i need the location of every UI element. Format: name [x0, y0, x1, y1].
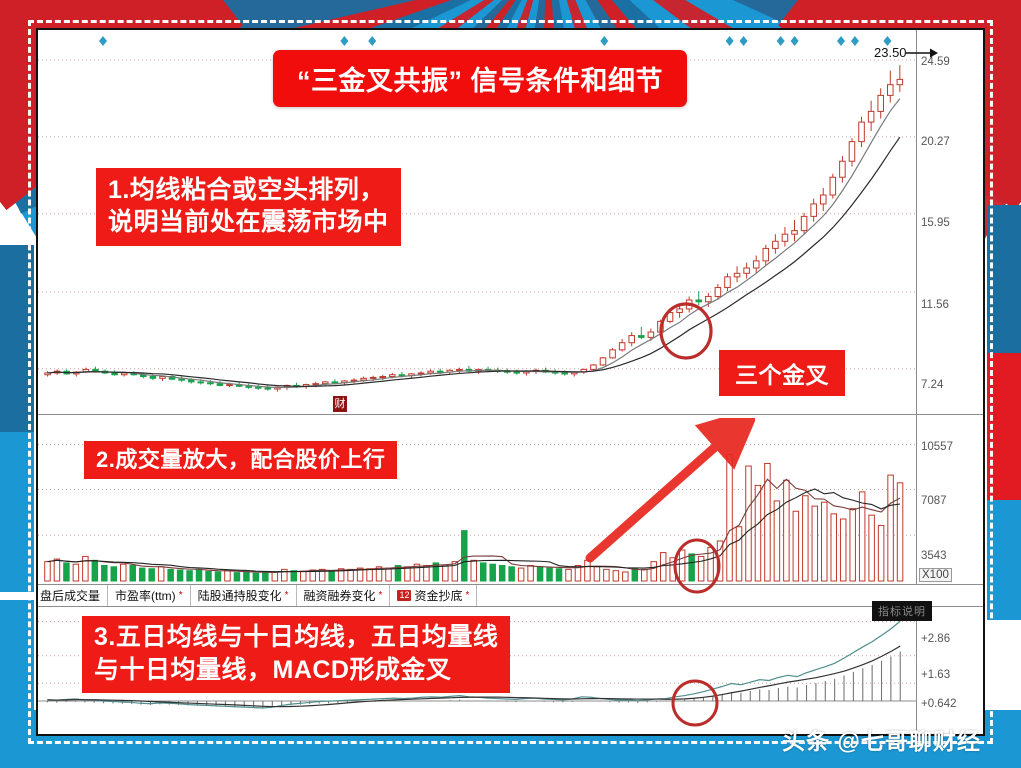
tab-star-icon: * — [285, 591, 289, 601]
cai-marker-icon: 财 — [333, 396, 347, 412]
axis-tick-label: 7087 — [921, 495, 947, 507]
axis-tick-label: +0.642 — [921, 698, 957, 710]
indicator-tab-2[interactable]: 市盈率(ttm)* — [108, 585, 191, 606]
indicator-tab-label: 资金抄底 — [414, 590, 462, 602]
gold-cross-label: 三个金叉 — [719, 350, 845, 396]
volume-trend-arrow — [580, 418, 755, 568]
page-title: “三金叉共振” 信号条件和细节 — [273, 50, 687, 107]
price-pointer-arrow — [906, 46, 940, 62]
macd-gold-cross-circle — [667, 678, 723, 728]
axis-tick-label: +2.86 — [921, 633, 950, 645]
annotation-1: 1.均线粘合或空头排列， 说明当前处在震荡市场中 — [96, 168, 401, 246]
axis-tick-label: 15.95 — [921, 217, 950, 229]
axis-tick-label: +1.63 — [921, 669, 950, 681]
indicator-toolbar[interactable]: 盘后成交量市盈率(ttm)*陆股通持股变化*融资融券变化*12资金抄底* — [38, 585, 983, 607]
price-y-axis: 24.5920.2715.9511.567.24 — [916, 30, 983, 414]
annotation-3: 3.五日均线与十日均线，五日均量线 与十日均量线，MACD形成金叉 — [82, 616, 510, 693]
tab-star-icon: * — [465, 591, 469, 601]
axis-tick-label: 3543 — [921, 550, 947, 562]
last-price-label: 23.50 — [874, 45, 907, 60]
indicator-tab-4[interactable]: 融资融券变化* — [297, 585, 391, 606]
watermark: 头条 @七哥聊财经 — [782, 722, 981, 756]
volume-y-axis: 1055770873543X100 — [916, 415, 983, 584]
indicator-tab-1[interactable]: 盘后成交量 — [38, 585, 108, 606]
indicator-note-button[interactable]: 指标说明 — [872, 601, 932, 621]
tab-star-icon: * — [379, 591, 383, 601]
indicator-tab-label: 融资融券变化 — [304, 590, 376, 602]
axis-tick-label: 7.24 — [921, 379, 943, 391]
axis-tick-label: 11.56 — [921, 299, 949, 311]
axis-tick-label: 20.27 — [921, 136, 950, 148]
indicator-tab-label: 盘后成交量 — [40, 590, 100, 602]
indicator-tab-5[interactable]: 12资金抄底* — [390, 585, 477, 606]
indicator-tab-label: 陆股通持股变化 — [198, 590, 282, 602]
screenshot-root: 24.5920.2715.9511.567.24 1055770873543X1… — [0, 0, 1021, 768]
axis-unit-label: X100 — [919, 568, 952, 582]
indicator-tab-3[interactable]: 陆股通持股变化* — [191, 585, 297, 606]
tab-badge-icon: 12 — [397, 590, 411, 601]
tab-star-icon: * — [179, 591, 183, 601]
indicator-tab-list[interactable]: 盘后成交量市盈率(ttm)*陆股通持股变化*融资融券变化*12资金抄底* — [38, 585, 983, 606]
macd-y-axis: +2.86+1.63+0.642 — [916, 607, 983, 732]
annotation-2: 2.成交量放大，配合股价上行 — [84, 441, 397, 479]
price-gold-cross-circle — [655, 300, 717, 362]
indicator-tab-label: 市盈率(ttm) — [115, 590, 176, 602]
axis-tick-label: 10557 — [921, 441, 953, 453]
